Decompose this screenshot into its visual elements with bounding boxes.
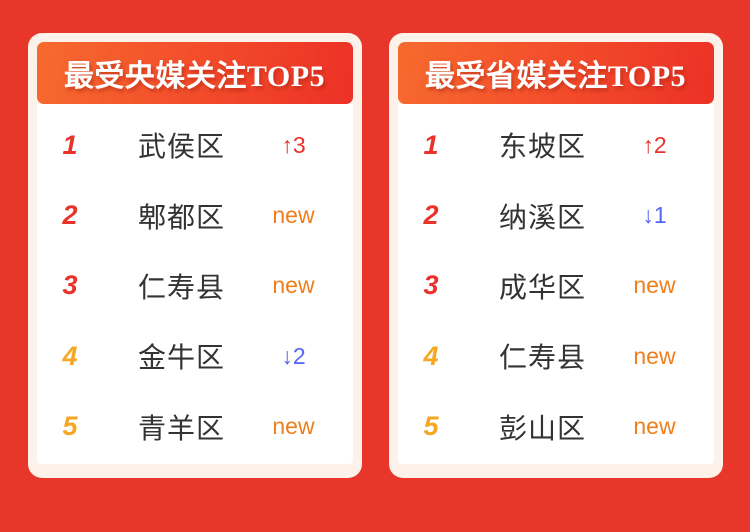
list-item[interactable]: 4 仁寿县 new bbox=[398, 326, 714, 387]
ranking-page: 最受央媒关注TOP5 1 武侯区 ↑3 2 郫都区 new 3 仁寿县 new … bbox=[0, 0, 750, 532]
rank-number: 3 bbox=[424, 272, 468, 299]
rank-number: 2 bbox=[424, 202, 468, 229]
district-name: 纳溪区 bbox=[468, 196, 618, 236]
rank-change-new-badge: new bbox=[257, 202, 331, 229]
district-name: 仁寿县 bbox=[468, 336, 618, 376]
rank-change-up-icon: ↑3 bbox=[257, 132, 331, 159]
card-header-banner-central-media: 最受央媒关注TOP5 bbox=[37, 42, 353, 104]
rank-change-up-icon: ↑2 bbox=[618, 132, 692, 159]
district-name: 青羊区 bbox=[107, 407, 257, 447]
list-item[interactable]: 2 纳溪区 ↓1 bbox=[398, 185, 714, 246]
card-title-provincial-media: 最受省媒关注TOP5 bbox=[425, 51, 686, 95]
district-name: 东坡区 bbox=[468, 125, 618, 165]
district-name: 金牛区 bbox=[107, 336, 257, 376]
ranking-card-provincial-media: 最受省媒关注TOP5 1 东坡区 ↑2 2 纳溪区 ↓1 3 成华区 new 4… bbox=[389, 33, 723, 478]
rank-number: 3 bbox=[63, 272, 107, 299]
rank-number: 1 bbox=[424, 132, 468, 159]
rank-number: 4 bbox=[63, 343, 107, 370]
list-item[interactable]: 3 仁寿县 new bbox=[37, 255, 353, 316]
district-name: 武侯区 bbox=[107, 125, 257, 165]
district-name: 成华区 bbox=[468, 266, 618, 306]
card-title-central-media: 最受央媒关注TOP5 bbox=[64, 51, 325, 95]
district-name: 彭山区 bbox=[468, 407, 618, 447]
rank-change-new-badge: new bbox=[257, 272, 331, 299]
rank-number: 4 bbox=[424, 343, 468, 370]
list-item[interactable]: 2 郫都区 new bbox=[37, 185, 353, 246]
rank-number: 1 bbox=[63, 132, 107, 159]
list-item[interactable]: 5 青羊区 new bbox=[37, 396, 353, 457]
rank-change-new-badge: new bbox=[618, 413, 692, 440]
list-item[interactable]: 5 彭山区 new bbox=[398, 396, 714, 457]
ranking-card-central-media: 最受央媒关注TOP5 1 武侯区 ↑3 2 郫都区 new 3 仁寿县 new … bbox=[28, 33, 362, 478]
rank-change-new-badge: new bbox=[618, 272, 692, 299]
list-item[interactable]: 4 金牛区 ↓2 bbox=[37, 326, 353, 387]
ranking-list-provincial-media: 1 东坡区 ↑2 2 纳溪区 ↓1 3 成华区 new 4 仁寿县 new 5 bbox=[398, 104, 714, 464]
card-header-banner-provincial-media: 最受省媒关注TOP5 bbox=[398, 42, 714, 104]
list-item[interactable]: 3 成华区 new bbox=[398, 255, 714, 316]
rank-change-down-icon: ↓2 bbox=[257, 343, 331, 370]
rank-change-new-badge: new bbox=[257, 413, 331, 440]
rank-change-down-icon: ↓1 bbox=[618, 202, 692, 229]
district-name: 郫都区 bbox=[107, 196, 257, 236]
district-name: 仁寿县 bbox=[107, 266, 257, 306]
ranking-list-central-media: 1 武侯区 ↑3 2 郫都区 new 3 仁寿县 new 4 金牛区 ↓2 5 bbox=[37, 104, 353, 464]
rank-number: 2 bbox=[63, 202, 107, 229]
rank-change-new-badge: new bbox=[618, 343, 692, 370]
list-item[interactable]: 1 武侯区 ↑3 bbox=[37, 115, 353, 176]
rank-number: 5 bbox=[63, 413, 107, 440]
rank-number: 5 bbox=[424, 413, 468, 440]
list-item[interactable]: 1 东坡区 ↑2 bbox=[398, 115, 714, 176]
